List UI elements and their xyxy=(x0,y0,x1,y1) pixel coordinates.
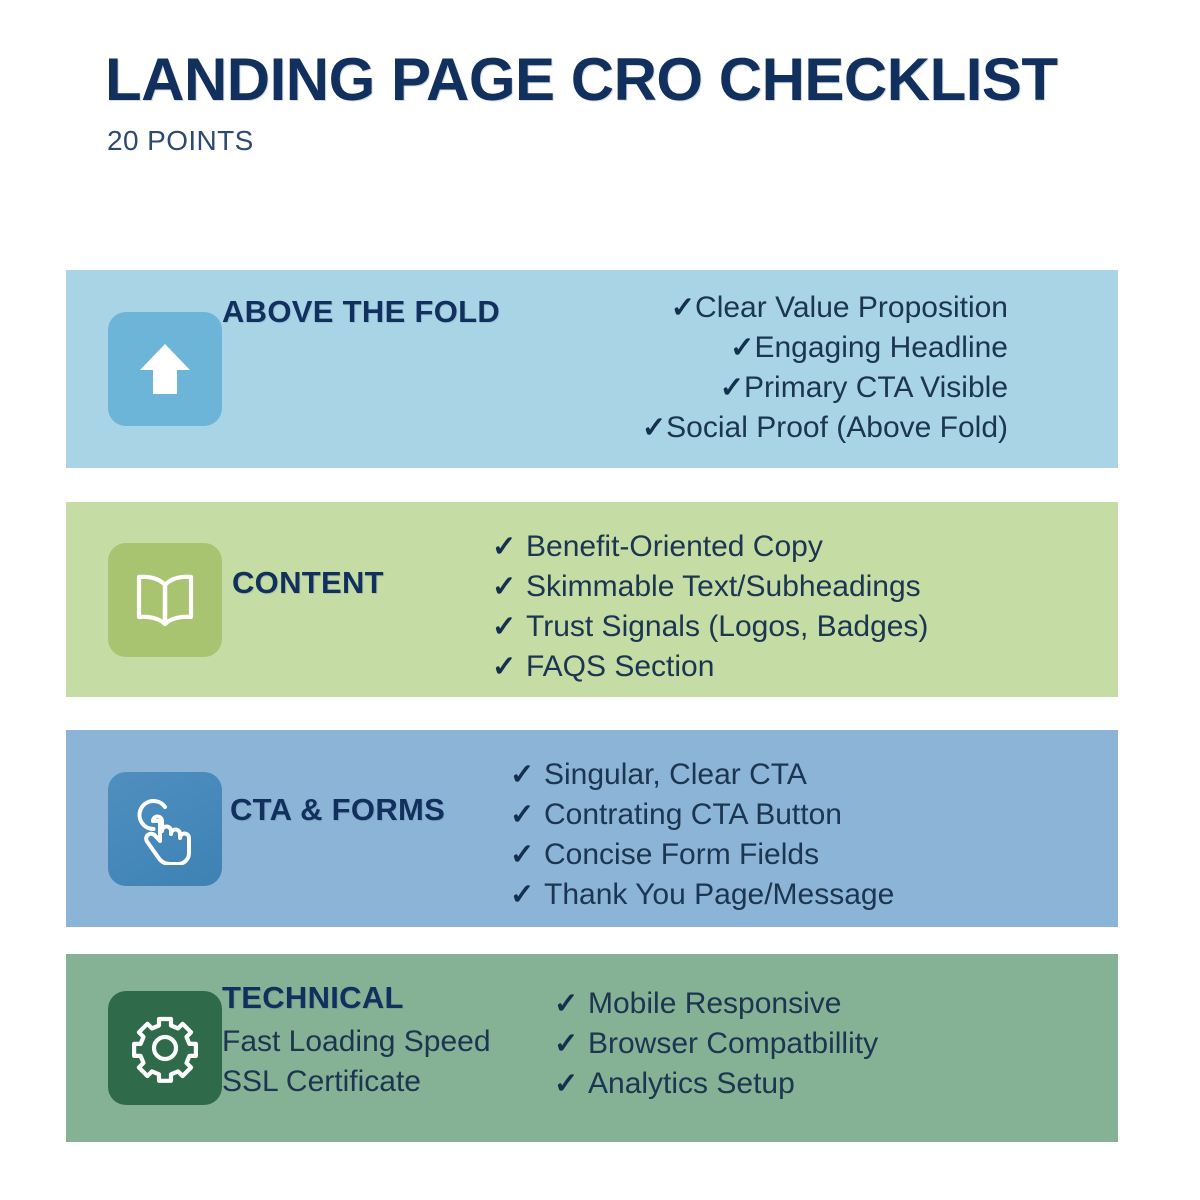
card-body: ABOVE THE FOLD ✓ Clear Value Proposition… xyxy=(222,270,1118,468)
open-book-icon-tile xyxy=(108,543,222,657)
list-item[interactable]: ✓ Trust Signals (Logos, Badges) xyxy=(492,607,928,647)
list-item-label: Concise Form Fields xyxy=(544,835,819,875)
check-icon: ✓ xyxy=(554,1025,588,1064)
card-body: CONTENT ✓ Benefit-Oriented Copy ✓ Skimma… xyxy=(222,502,1118,697)
card-above-the-fold[interactable]: ABOVE THE FOLD ✓ Clear Value Proposition… xyxy=(66,270,1118,468)
list-item-label: Trust Signals (Logos, Badges) xyxy=(526,607,928,647)
card-body: TECHNICAL Fast Loading Speed SSL Certifi… xyxy=(222,954,1118,1142)
tap-hand-icon xyxy=(129,793,201,865)
page-subtitle: 20 POINTS xyxy=(107,125,1105,157)
list-item[interactable]: ✓ Clear Value Proposition xyxy=(632,288,1008,328)
card-heading: CONTENT xyxy=(232,565,384,601)
list-item[interactable]: ✓ Social Proof (Above Fold) xyxy=(632,408,1008,448)
card-heading: TECHNICAL xyxy=(222,980,491,1016)
card-content[interactable]: CONTENT ✓ Benefit-Oriented Copy ✓ Skimma… xyxy=(66,502,1118,697)
check-icon: ✓ xyxy=(510,876,544,915)
check-icon: ✓ xyxy=(492,568,526,607)
card-cta-and-forms[interactable]: CTA & FORMS ✓ Singular, Clear CTA ✓ Cont… xyxy=(66,730,1118,927)
up-arrow-icon-tile xyxy=(108,312,222,426)
list-item-label: Clear Value Proposition xyxy=(695,288,1008,328)
check-icon: ✓ xyxy=(492,528,526,567)
list-item-label: Benefit-Oriented Copy xyxy=(526,527,823,567)
list-item-label: Thank You Page/Message xyxy=(544,875,894,915)
list-item-label: Primary CTA Visible xyxy=(744,368,1008,408)
card-heading: CTA & FORMS xyxy=(230,792,445,828)
list-item-label: Skimmable Text/Subheadings xyxy=(526,567,921,607)
check-icon: ✓ xyxy=(492,648,526,687)
check-icon: ✓ xyxy=(510,756,544,795)
list-item[interactable]: ✓ Browser Compatbillity xyxy=(554,1024,878,1064)
list-item-label: FAQS Section xyxy=(526,647,714,687)
gear-icon-tile xyxy=(108,991,222,1105)
card-heading: ABOVE THE FOLD xyxy=(222,294,500,330)
list-item-label: Social Proof (Above Fold) xyxy=(666,408,1008,448)
check-icon: ✓ xyxy=(632,409,666,448)
check-icon: ✓ xyxy=(554,1065,588,1104)
list-item[interactable]: SSL Certificate xyxy=(222,1062,491,1102)
list-item[interactable]: ✓ Engaging Headline xyxy=(632,328,1008,368)
list-item[interactable]: ✓ Skimmable Text/Subheadings xyxy=(492,567,928,607)
list-item-label: Analytics Setup xyxy=(588,1064,795,1104)
list-item[interactable]: Fast Loading Speed xyxy=(222,1022,491,1062)
open-book-icon xyxy=(129,567,201,633)
list-item[interactable]: ✓ Thank You Page/Message xyxy=(510,875,894,915)
list-item-label: Browser Compatbillity xyxy=(588,1024,878,1064)
list-item-label: Singular, Clear CTA xyxy=(544,755,807,795)
list-item[interactable]: ✓ Contrating CTA Button xyxy=(510,795,894,835)
up-arrow-icon xyxy=(132,336,198,402)
checklist-cards: ABOVE THE FOLD ✓ Clear Value Proposition… xyxy=(66,270,1118,1142)
list-item[interactable]: ✓ FAQS Section xyxy=(492,647,928,687)
check-icon: ✓ xyxy=(492,608,526,647)
list-item-label: Engaging Headline xyxy=(754,328,1008,368)
checklist: ✓ Mobile Responsive ✓ Browser Compatbill… xyxy=(554,984,878,1104)
checklist: ✓ Clear Value Proposition ✓ Engaging Hea… xyxy=(632,288,1008,448)
list-item[interactable]: ✓ Singular, Clear CTA xyxy=(510,755,894,795)
page-title: LANDING PAGE CRO CHECKLIST xyxy=(105,48,1105,111)
page-header: LANDING PAGE CRO CHECKLIST 20 POINTS xyxy=(105,48,1105,157)
tap-hand-icon-tile xyxy=(108,772,222,886)
check-icon: ✓ xyxy=(510,796,544,835)
check-icon: ✓ xyxy=(710,369,744,408)
card-body: CTA & FORMS ✓ Singular, Clear CTA ✓ Cont… xyxy=(222,730,1118,927)
list-item[interactable]: ✓ Concise Form Fields xyxy=(510,835,894,875)
check-icon: ✓ xyxy=(510,836,544,875)
checklist: ✓ Benefit-Oriented Copy ✓ Skimmable Text… xyxy=(492,527,928,687)
list-item[interactable]: ✓ Analytics Setup xyxy=(554,1064,878,1104)
check-icon: ✓ xyxy=(720,329,754,368)
checklist: ✓ Singular, Clear CTA ✓ Contrating CTA B… xyxy=(510,755,894,915)
list-item[interactable]: ✓ Benefit-Oriented Copy xyxy=(492,527,928,567)
check-icon: ✓ xyxy=(661,289,695,328)
technical-left-column: TECHNICAL Fast Loading Speed SSL Certifi… xyxy=(222,980,491,1102)
list-item[interactable]: ✓ Mobile Responsive xyxy=(554,984,878,1024)
list-item[interactable]: ✓ Primary CTA Visible xyxy=(632,368,1008,408)
card-technical[interactable]: TECHNICAL Fast Loading Speed SSL Certifi… xyxy=(66,954,1118,1142)
list-item-label: Contrating CTA Button xyxy=(544,795,842,835)
list-item-label: Mobile Responsive xyxy=(588,984,841,1024)
gear-icon xyxy=(129,1012,201,1084)
check-icon: ✓ xyxy=(554,985,588,1024)
